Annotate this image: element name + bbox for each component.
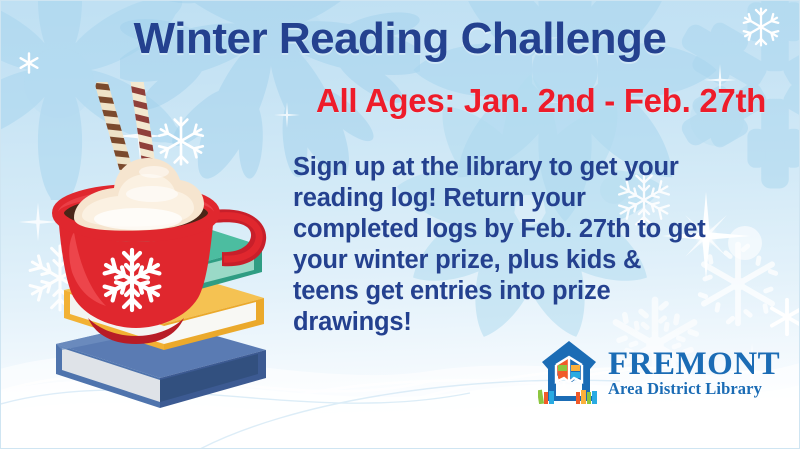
event-dates-subtitle: All Ages: Jan. 2nd - Feb. 27th [316, 82, 766, 120]
logo-title: FREMONT [608, 349, 780, 380]
library-house-icon [538, 338, 600, 404]
library-logo: FREMONT Area District Library [538, 338, 790, 404]
winter-reading-challenge-poster: Winter Reading Challenge All Ages: Jan. … [0, 0, 800, 449]
whipped-cream [74, 158, 204, 231]
logo-subtitle: Area District Library [608, 380, 780, 398]
bokeh-circle [728, 226, 762, 260]
logo-wordmark: FREMONT Area District Library [608, 349, 780, 404]
snowflake-icon [760, 290, 800, 344]
hot-cocoa-on-books-illustration [18, 82, 288, 412]
event-description: Sign up at the library to get your readi… [293, 152, 713, 338]
page-title: Winter Reading Challenge [0, 14, 800, 64]
